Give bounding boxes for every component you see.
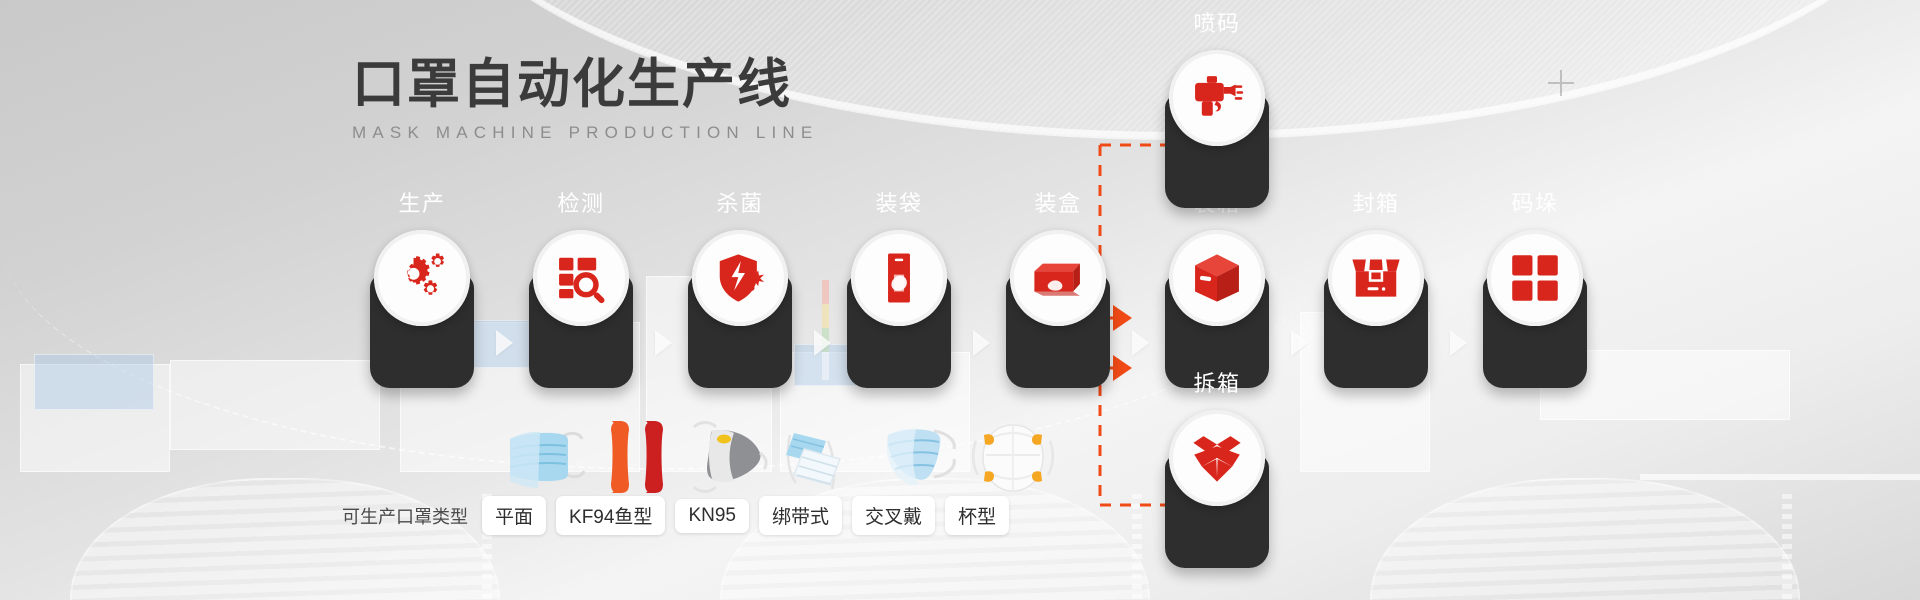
flat-blue-mask-image [500, 415, 586, 499]
node-label: 装袋 [847, 186, 951, 218]
kn95-grey-mask-image [688, 415, 774, 499]
mask-type-chip-cup[interactable]: 杯型 [945, 496, 1009, 535]
earloop-blue-mask-image [876, 415, 962, 499]
flow-arrow-icon [1450, 330, 1467, 356]
branch-arrow-icon [1113, 355, 1132, 381]
flow-arrow-icon [496, 330, 513, 356]
palletize-grid-icon [1508, 251, 1562, 305]
magnifier-inspection-icon [554, 251, 608, 305]
node-icon-bubble [1487, 230, 1583, 326]
tie-on-mask-image [782, 415, 868, 499]
mask-type-swatches [500, 415, 1056, 499]
cup-white-mask-image [970, 415, 1056, 499]
node-label: 生产 [370, 186, 474, 218]
mask-type-chip-tie-on[interactable]: 绑带式 [759, 496, 842, 535]
mask-production-line-banner: 口罩自动化生产线 MASK MACHINE PRODUCTION LINE 生产 [0, 0, 1920, 600]
mask-silhouette-bottom-icon [1370, 478, 1800, 600]
node-icon-bubble [374, 230, 470, 326]
node-icon-bubble [1328, 230, 1424, 326]
mask-type-row-label: 可生产口罩类型 [342, 503, 468, 529]
bagging-icon [872, 251, 926, 305]
mask-type-chip-crossed[interactable]: 交叉戴 [852, 496, 935, 535]
node-label: 检测 [529, 186, 633, 218]
node-icon-bubble [851, 230, 947, 326]
mask-type-chip-kn95[interactable]: KN95 [675, 499, 749, 533]
node-label: 杀菌 [688, 186, 792, 218]
node-label: 装盒 [1006, 186, 1110, 218]
inkjet-spray-gun-icon [1190, 71, 1244, 125]
banner-heading: 口罩自动化生产线 MASK MACHINE PRODUCTION LINE [352, 56, 818, 143]
flow-arrow-icon [814, 330, 831, 356]
node-label: 喷码 [1165, 6, 1269, 38]
mask-type-chip-flat[interactable]: 平面 [482, 496, 546, 535]
node-icon-bubble [1169, 230, 1265, 326]
mask-type-row: 可生产口罩类型 平面 KF94鱼型 KN95 绑带式 交叉戴 杯型 [342, 496, 1009, 535]
node-icon-bubble [1010, 230, 1106, 326]
carton-pack-icon [1190, 251, 1244, 305]
unpack-open-box-icon [1190, 431, 1244, 485]
ghost-machinery-panel [34, 354, 154, 410]
node-label: 封箱 [1324, 186, 1428, 218]
page-subtitle: MASK MACHINE PRODUCTION LINE [352, 123, 818, 143]
boxing-icon [1031, 251, 1085, 305]
branch-arrow-icon [1113, 305, 1132, 331]
crosshair-plus-mark-icon [1548, 70, 1574, 96]
node-label: 拆箱 [1165, 366, 1269, 398]
flow-arrow-icon [973, 330, 990, 356]
kf94-fish-mask-image [594, 415, 680, 499]
node-icon-bubble [533, 230, 629, 326]
flow-arrow-icon [1291, 330, 1308, 356]
ghost-machinery [20, 364, 170, 472]
node-icon-bubble [692, 230, 788, 326]
gears-icon [395, 251, 449, 305]
flow-arrow-icon [655, 330, 672, 356]
node-label: 码垛 [1483, 186, 1587, 218]
page-title: 口罩自动化生产线 [352, 56, 818, 114]
carton-seal-icon [1349, 251, 1403, 305]
mask-type-chip-kf94[interactable]: KF94鱼型 [556, 496, 665, 535]
node-icon-bubble [1169, 410, 1265, 506]
node-icon-bubble [1169, 50, 1265, 146]
ghost-machinery [170, 360, 380, 450]
ghost-conveyor-rail [1640, 474, 1920, 480]
shield-sterilize-icon [713, 251, 767, 305]
